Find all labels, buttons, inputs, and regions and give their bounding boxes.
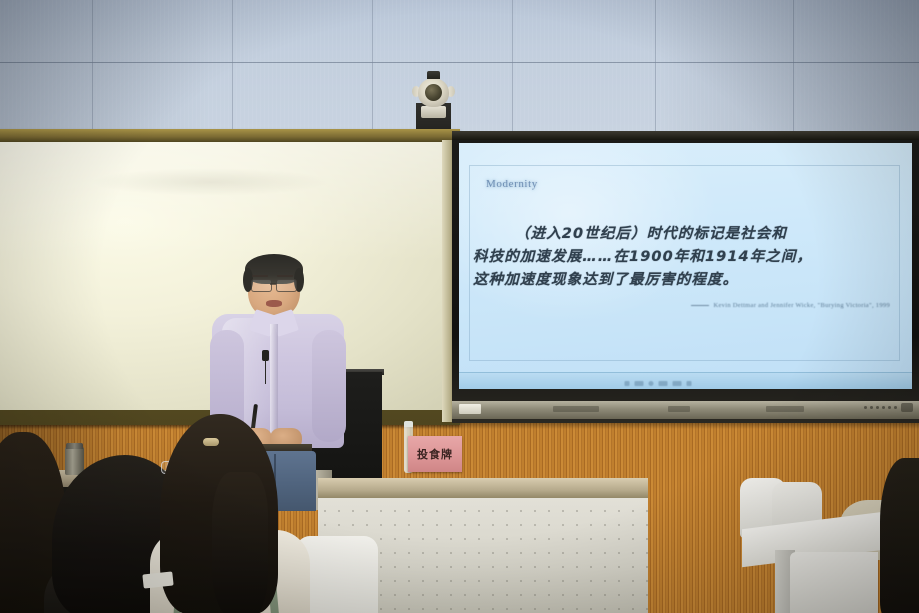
wall-tile-seam (372, 0, 373, 132)
display-button[interactable] (876, 406, 879, 409)
slide-citation: Kevin Dettmar and Jennifer Wicke, "Buryi… (691, 302, 890, 309)
thermos-cap (66, 443, 83, 449)
quote-line-3: 这种加速度现象达到了最厉害的程度。 (473, 269, 898, 292)
right-counter-top (318, 478, 648, 498)
display-button[interactable] (864, 406, 867, 409)
microphone-wire (265, 360, 266, 384)
camera-base (421, 106, 446, 118)
pen-icon[interactable] (625, 381, 630, 386)
quote-line-2: 科技的加速发展……在1900年和1914年之间， (473, 246, 898, 269)
hair-clip-icon (203, 438, 219, 446)
display-button-row[interactable] (864, 406, 897, 409)
display-button[interactable] (888, 406, 891, 409)
display-bezel-top (452, 131, 919, 140)
slide-nav-icon[interactable] (659, 381, 668, 386)
presenter-mouth (266, 300, 282, 307)
whiteboard-smudge (90, 168, 330, 196)
display-port-label (766, 406, 804, 412)
quote-line-1: （进入20世纪后）时代的标记是社会和 (473, 223, 898, 246)
display-port-label (668, 406, 690, 412)
slide-quote-block: （进入20世纪后）时代的标记是社会和 科技的加速发展……在1900年和1914年… (473, 223, 898, 292)
desk-panel (790, 552, 878, 613)
bottle-cap-icon (404, 421, 413, 427)
next-icon[interactable] (687, 381, 692, 386)
display-button[interactable] (870, 406, 873, 409)
power-icon[interactable] (901, 403, 913, 412)
display-port-label (553, 406, 599, 412)
wall-tile-seam (655, 0, 656, 132)
presenter-shirt-placket (270, 324, 278, 442)
citation-dash-icon (691, 305, 709, 306)
wall-tile-seam (512, 0, 513, 132)
eyeglasses-icon (276, 279, 297, 292)
eyeglasses-bridge-icon (270, 283, 276, 285)
menu-icon[interactable] (673, 381, 682, 386)
display-button[interactable] (894, 406, 897, 409)
display-screen[interactable]: Modernity （进入20世纪后）时代的标记是社会和 科技的加速发展……在1… (459, 143, 912, 389)
placard-text: 投食牌 (417, 446, 453, 462)
presenter-right-arm (312, 330, 346, 442)
slide-title: Modernity (486, 178, 538, 190)
presentation-slide[interactable]: Modernity （进入20世纪后）时代的标记是社会和 科技的加速发展……在1… (459, 143, 912, 389)
wall-tile-seam (232, 0, 233, 132)
video-frame: Modernity （进入20世纪后）时代的标记是社会和 科技的加速发展……在1… (0, 0, 919, 613)
student-ponytail (212, 472, 268, 613)
desk-placard: 投食牌 (408, 436, 462, 472)
camera-lens-icon (425, 84, 442, 101)
whiteboard-frame-top (0, 129, 460, 142)
wall-shading (659, 0, 919, 132)
camera-top-icon (427, 71, 440, 79)
pointer-dot-icon[interactable] (649, 381, 654, 386)
display-button[interactable] (882, 406, 885, 409)
slide-toolbar[interactable] (625, 381, 692, 386)
wall-shading (0, 0, 210, 132)
citation-text: Kevin Dettmar and Jennifer Wicke, "Buryi… (713, 302, 890, 309)
display-brand-logo (459, 404, 481, 414)
eyeglasses-icon (251, 279, 272, 292)
highlighter-icon[interactable] (635, 381, 644, 386)
student-silhouette (880, 458, 919, 613)
